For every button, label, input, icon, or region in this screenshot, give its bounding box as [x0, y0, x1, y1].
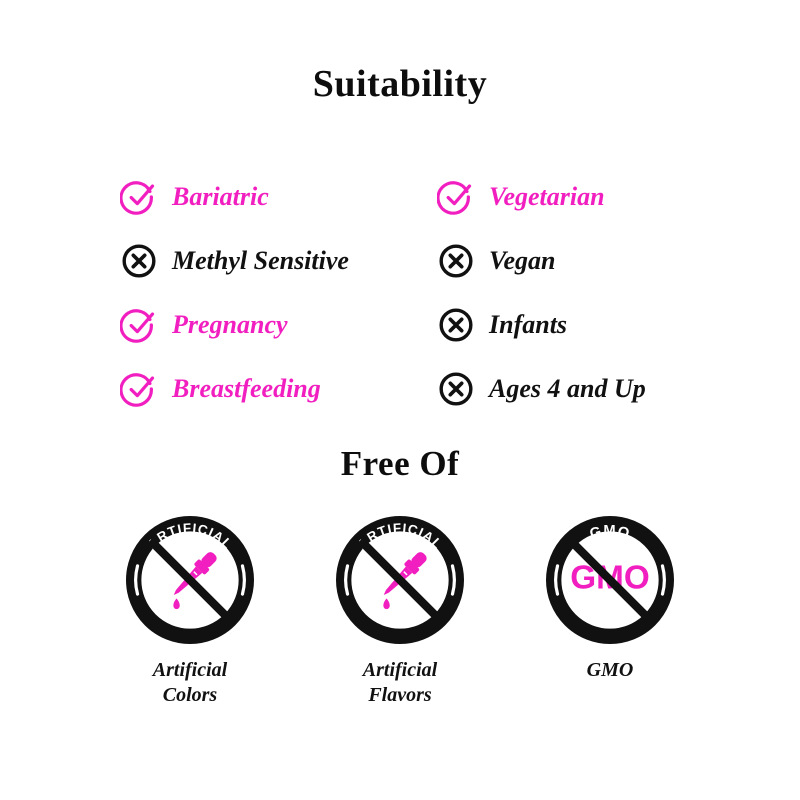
slash-line: [150, 540, 229, 619]
check-circle-icon: [437, 178, 475, 216]
free-of-badge-caption: GMO: [587, 658, 634, 683]
x-circle-icon: [437, 306, 475, 344]
suitability-item-label: Vegetarian: [489, 184, 605, 210]
free-of-badge-caption: Artificial Flavors: [363, 658, 437, 708]
dropper-icon: [378, 549, 430, 601]
suitability-item-methyl-sensitive: Methyl Sensitive: [120, 229, 437, 293]
suitability-item-label: Bariatric: [172, 184, 269, 210]
suitability-item-bariatric: Bariatric: [120, 165, 437, 229]
suitability-item-infants: Infants: [437, 293, 700, 357]
suitability-item-label: Infants: [489, 312, 567, 338]
free-of-badge-gmo: GMO GMO GMO GMO: [520, 516, 700, 683]
no-artificial-flavors-badge-icon: ARTIFICIAL FLAVORS: [336, 516, 464, 644]
suitability-item-label: Vegan: [489, 248, 555, 274]
suitability-item-label: Breastfeeding: [172, 376, 321, 402]
no-artificial-colors-badge-icon: ARTIFICIAL COLORS: [126, 516, 254, 644]
free-of-badge-list: ARTIFICIAL COLORS Artificial Colors: [100, 516, 700, 708]
drop-icon: [383, 599, 389, 610]
suitability-item-label: Methyl Sensitive: [172, 248, 349, 274]
x-circle-icon: [120, 242, 158, 280]
suitability-item-pregnancy: Pregnancy: [120, 293, 437, 357]
suitability-item-label: Pregnancy: [172, 312, 288, 338]
suitability-item-ages-4-and-up: Ages 4 and Up: [437, 357, 700, 421]
suitability-item-vegan: Vegan: [437, 229, 700, 293]
suitability-item-label: Ages 4 and Up: [489, 376, 646, 402]
free-of-section-title: Free Of: [0, 444, 800, 484]
free-of-badge-artificial-colors: ARTIFICIAL COLORS Artificial Colors: [100, 516, 280, 708]
x-circle-icon: [437, 370, 475, 408]
x-circle-icon: [437, 242, 475, 280]
drop-icon: [173, 599, 179, 610]
suitability-item-breastfeeding: Breastfeeding: [120, 357, 437, 421]
badge-ring-text-bottom: GMO: [590, 608, 629, 627]
dropper-icon: [168, 549, 220, 601]
suitability-section-title: Suitability: [0, 62, 800, 106]
free-of-badge-artificial-flavors: ARTIFICIAL FLAVORS Artificial Flavors: [310, 516, 490, 708]
check-circle-icon: [120, 306, 158, 344]
suitability-item-vegetarian: Vegetarian: [437, 165, 700, 229]
check-circle-icon: [120, 178, 158, 216]
no-gmo-badge-icon: GMO GMO GMO: [546, 516, 674, 644]
check-circle-icon: [120, 370, 158, 408]
svg-text:GMO: GMO: [588, 523, 632, 542]
free-of-badge-caption: Artificial Colors: [153, 658, 227, 708]
badge-ring-text-top: GMO: [588, 523, 632, 542]
svg-text:GMO: GMO: [590, 608, 629, 627]
suitability-list: Bariatric Vegetarian Methyl Sensitive Ve…: [120, 165, 700, 421]
